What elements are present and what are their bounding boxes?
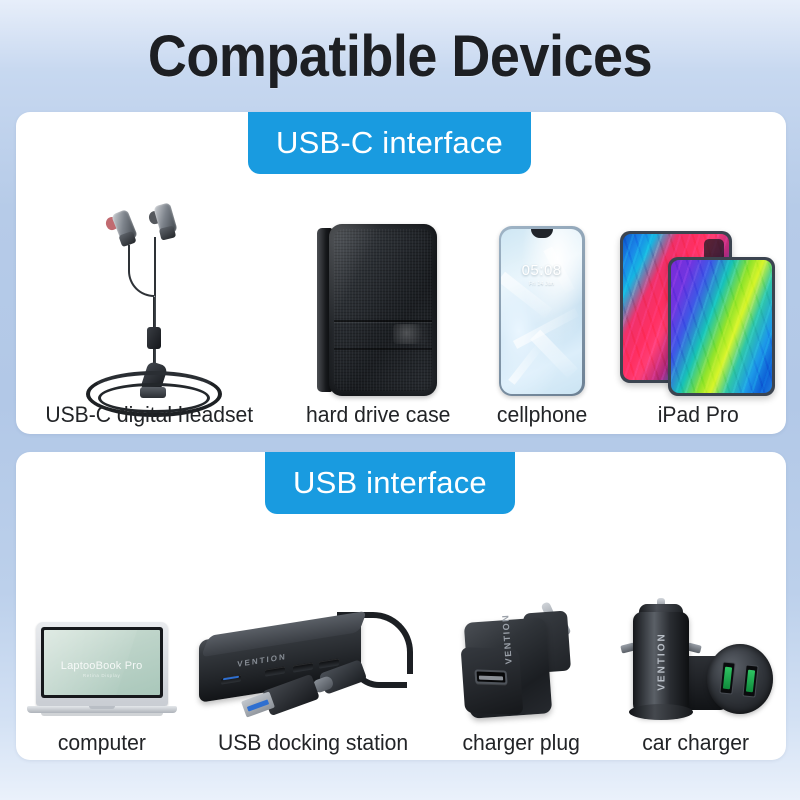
device-caption: cellphone xyxy=(496,402,586,428)
usb-c-section-card: USB-C interface xyxy=(16,112,786,434)
page-title: Compatible Devices xyxy=(28,26,772,88)
device-caption: car charger xyxy=(642,730,749,756)
hard-drive-enclosure-icon xyxy=(317,224,439,396)
laptop-icon: LaptooBook Pro Retina Display xyxy=(27,622,177,724)
device-item-ipad-pro: iPad Pro xyxy=(613,231,783,428)
phone-clock: 05:08 xyxy=(501,263,582,278)
usb-section-card: USB interface LaptooBook Pro Retina Disp… xyxy=(16,452,786,760)
usb-c-section-badge: USB-C interface xyxy=(248,112,531,174)
usb-c-device-row: USB-C digital headset hard drive case xyxy=(16,178,786,428)
device-caption: hard drive case xyxy=(306,402,450,428)
device-item-computer: LaptooBook Pro Retina Display computer xyxy=(19,622,184,756)
device-caption: iPad Pro xyxy=(657,402,738,428)
usb-device-row: LaptooBook Pro Retina Display computer xyxy=(16,512,786,756)
phone-date: Fri 14 Jun xyxy=(501,281,582,287)
usb-section-badge: USB interface xyxy=(265,452,515,514)
infographic-poster: Compatible Devices USB-C interface xyxy=(0,0,800,800)
device-item-hard-drive-case: hard drive case xyxy=(285,224,470,428)
device-item-charger-plug: VENTION charger plug xyxy=(442,604,602,756)
smartphone-icon: 05:08 Fri 14 Jun xyxy=(499,226,585,396)
wall-charger-icon: VENTION xyxy=(463,604,581,724)
device-caption: charger plug xyxy=(463,730,580,756)
laptop-screen-brand: LaptooBook Pro xyxy=(44,660,160,672)
car-charger-icon: VENTION xyxy=(615,600,775,724)
device-item-usb-docking-station: VENTION USB docking station xyxy=(190,606,435,756)
device-caption: computer xyxy=(58,730,146,756)
device-item-cellphone: 05:08 Fri 14 Jun cellphone xyxy=(477,226,607,428)
tablet-icon xyxy=(620,231,775,396)
device-item-car-charger: VENTION car charger xyxy=(608,600,783,756)
earphones-icon xyxy=(54,201,244,396)
laptop-screen-subtitle: Retina Display xyxy=(44,673,160,679)
phone-notch xyxy=(531,229,553,238)
device-caption: USB-C digital headset xyxy=(45,402,253,428)
device-item-usb-c-digital-headset: USB-C digital headset xyxy=(19,201,279,428)
device-caption: USB docking station xyxy=(218,730,408,756)
usb-hub-icon: VENTION xyxy=(199,606,427,724)
car-charger-brand-mark: VENTION xyxy=(657,623,668,701)
